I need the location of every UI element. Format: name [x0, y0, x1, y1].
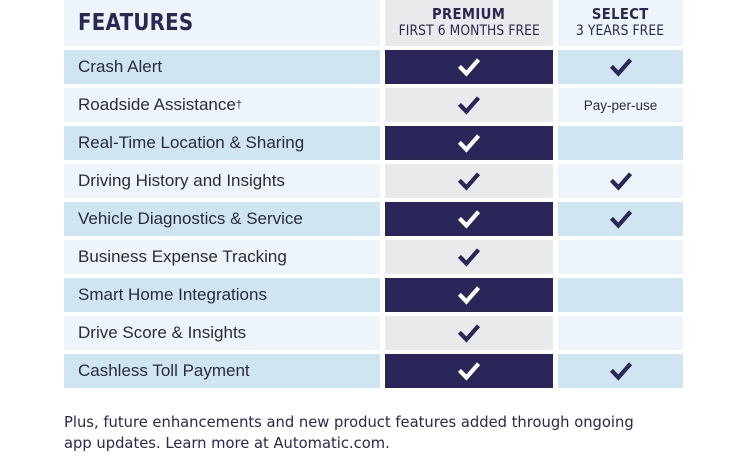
premium-cell: [385, 278, 553, 312]
features-header-label: FEATURES: [78, 10, 193, 36]
feature-name: Business Expense Tracking: [78, 247, 287, 267]
check-icon: [456, 130, 482, 156]
check-icon: [456, 244, 482, 270]
feature-name: Real-Time Location & Sharing: [78, 133, 304, 153]
feature-name: Roadside Assistance: [78, 95, 236, 115]
check-icon: [608, 54, 634, 80]
premium-column-header: PREMIUM FIRST 6 MONTHS FREE: [385, 0, 553, 46]
features-column-header: FEATURES: [64, 0, 380, 46]
select-cell: [558, 50, 683, 84]
select-column-header: SELECT 3 YEARS FREE: [558, 0, 683, 46]
select-cell: [558, 354, 683, 388]
select-cell-text: Pay-per-use: [584, 98, 658, 113]
select-cell: [558, 202, 683, 236]
check-icon: [456, 282, 482, 308]
check-icon: [608, 168, 634, 194]
feature-comparison-table: FEATURES PREMIUM FIRST 6 MONTHS FREE SEL…: [0, 0, 750, 457]
check-icon: [456, 54, 482, 80]
check-icon: [456, 320, 482, 346]
premium-cell: [385, 316, 553, 350]
premium-cell: [385, 354, 553, 388]
feature-row-label: Real-Time Location & Sharing: [64, 126, 380, 160]
check-icon: [456, 92, 482, 118]
footer-note: Plus, future enhancements and new produc…: [64, 412, 684, 455]
feature-row-label: Crash Alert: [64, 50, 380, 84]
premium-cell: [385, 240, 553, 274]
feature-name: Crash Alert: [78, 57, 162, 77]
premium-cell: [385, 126, 553, 160]
check-icon: [456, 206, 482, 232]
premium-plan-subtitle: FIRST 6 MONTHS FREE: [398, 24, 539, 39]
select-cell: [558, 240, 683, 274]
feature-row-label: Vehicle Diagnostics & Service: [64, 202, 380, 236]
select-cell: [558, 164, 683, 198]
feature-row-label: Drive Score & Insights: [64, 316, 380, 350]
feature-row-label: Roadside Assistance†: [64, 88, 380, 122]
feature-name: Driving History and Insights: [78, 171, 285, 191]
select-cell: Pay-per-use: [558, 88, 683, 122]
feature-name: Vehicle Diagnostics & Service: [78, 209, 303, 229]
feature-row-label: Business Expense Tracking: [64, 240, 380, 274]
feature-name: Drive Score & Insights: [78, 323, 246, 343]
check-icon: [608, 206, 634, 232]
feature-row-label: Cashless Toll Payment: [64, 354, 380, 388]
select-plan-subtitle: 3 YEARS FREE: [576, 24, 664, 39]
footer-line-2: app updates. Learn more at Automatic.com…: [64, 433, 653, 454]
premium-cell: [385, 202, 553, 236]
feature-name: Smart Home Integrations: [78, 285, 267, 305]
select-plan-name: SELECT: [592, 7, 649, 23]
premium-cell: [385, 164, 553, 198]
premium-plan-name: PREMIUM: [432, 7, 505, 23]
feature-name: Cashless Toll Payment: [78, 361, 250, 381]
footer-line-1: Plus, future enhancements and new produc…: [64, 412, 653, 433]
check-icon: [456, 168, 482, 194]
check-icon: [456, 358, 482, 384]
select-cell: [558, 126, 683, 160]
check-icon: [608, 358, 634, 384]
select-cell: [558, 316, 683, 350]
premium-cell: [385, 50, 553, 84]
feature-row-label: Driving History and Insights: [64, 164, 380, 198]
table-header-row: FEATURES PREMIUM FIRST 6 MONTHS FREE SEL…: [0, 0, 750, 46]
feature-row-label: Smart Home Integrations: [64, 278, 380, 312]
premium-cell: [385, 88, 553, 122]
select-cell: [558, 278, 683, 312]
